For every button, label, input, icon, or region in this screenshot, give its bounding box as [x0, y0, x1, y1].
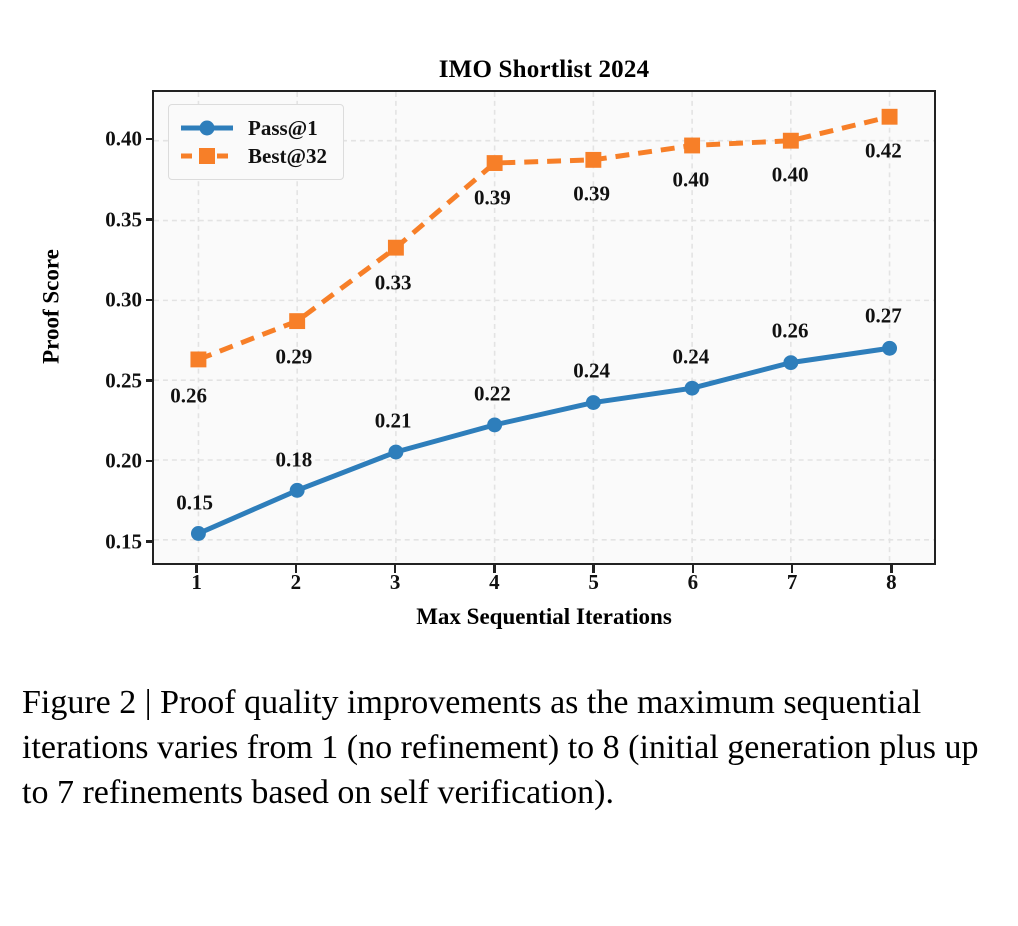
x-tick-label: 3 — [365, 572, 425, 593]
x-tick-label: 2 — [266, 572, 326, 593]
y-tick-label: 0.20 — [64, 451, 142, 472]
x-tick-mark — [295, 565, 298, 573]
y-tick-label: 0.15 — [64, 531, 142, 552]
x-tick-mark — [592, 565, 595, 573]
figure-2: IMO Shortlist 2024 Proof Score Max Seque… — [0, 0, 1018, 660]
x-tick-label: 8 — [861, 572, 921, 593]
x-tick-mark — [394, 565, 397, 573]
figure-caption: Figure 2 | Proof quality improvements as… — [22, 680, 997, 816]
y-axis-tick-labels: 0.150.200.250.300.350.40 — [58, 90, 142, 565]
caption-text: Proof quality improvements as the maximu… — [22, 684, 978, 811]
legend-label-pass-at-1: Pass@1 — [248, 118, 318, 139]
y-tick-label: 0.40 — [64, 129, 142, 150]
y-tick-label: 0.35 — [64, 209, 142, 230]
legend-entry-pass-at-1[interactable]: Pass@1 — [179, 114, 327, 142]
x-tick-label: 1 — [167, 572, 227, 593]
x-axis-title: Max Sequential Iterations — [152, 605, 936, 628]
x-tick-label: 7 — [762, 572, 822, 593]
y-tick-label: 0.25 — [64, 370, 142, 391]
legend-swatch-pass-at-1 — [179, 117, 235, 139]
plot-area: 0.150.180.210.220.240.240.260.270.260.29… — [152, 90, 936, 565]
x-tick-mark — [890, 565, 893, 573]
x-axis-tick-labels: 12345678 — [152, 572, 936, 604]
x-tick-mark — [493, 565, 496, 573]
x-tick-mark — [195, 565, 198, 573]
legend-label-best-at-32: Best@32 — [248, 146, 327, 167]
y-tick-label: 0.30 — [64, 290, 142, 311]
figure-number: Figure 2 | — [22, 684, 152, 721]
chart-legend: Pass@1 Best@32 — [168, 104, 344, 180]
x-tick-label: 6 — [663, 572, 723, 593]
legend-entry-best-at-32[interactable]: Best@32 — [179, 142, 327, 170]
x-tick-label: 4 — [464, 572, 524, 593]
x-tick-mark — [692, 565, 695, 573]
chart-title: IMO Shortlist 2024 — [152, 57, 936, 82]
legend-swatch-best-at-32 — [179, 145, 235, 167]
x-tick-label: 5 — [564, 572, 624, 593]
x-tick-mark — [791, 565, 794, 573]
